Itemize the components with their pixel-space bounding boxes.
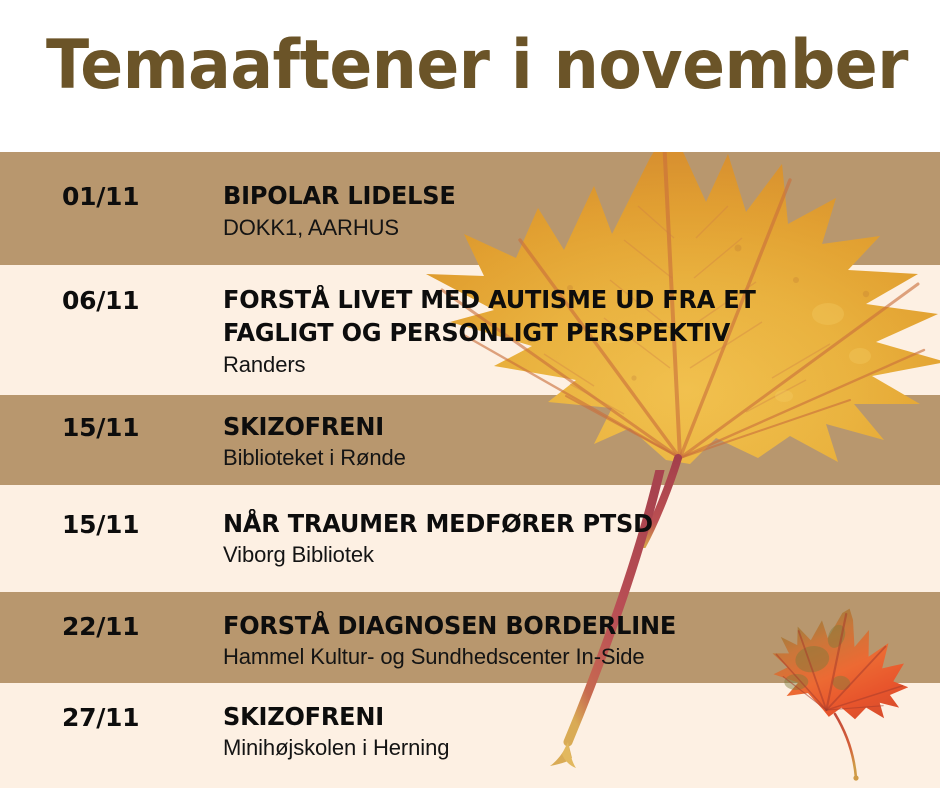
page-title: Temaaftener i november [46, 26, 908, 106]
row-band [0, 152, 940, 265]
row-band [0, 592, 940, 683]
row-band [0, 265, 940, 395]
row-band [0, 485, 940, 592]
schedule-bands [0, 152, 940, 788]
poster-canvas: Temaaftener i november [0, 0, 940, 788]
row-band [0, 683, 940, 788]
row-band [0, 395, 940, 485]
poster-header: Temaaftener i november [0, 0, 940, 152]
